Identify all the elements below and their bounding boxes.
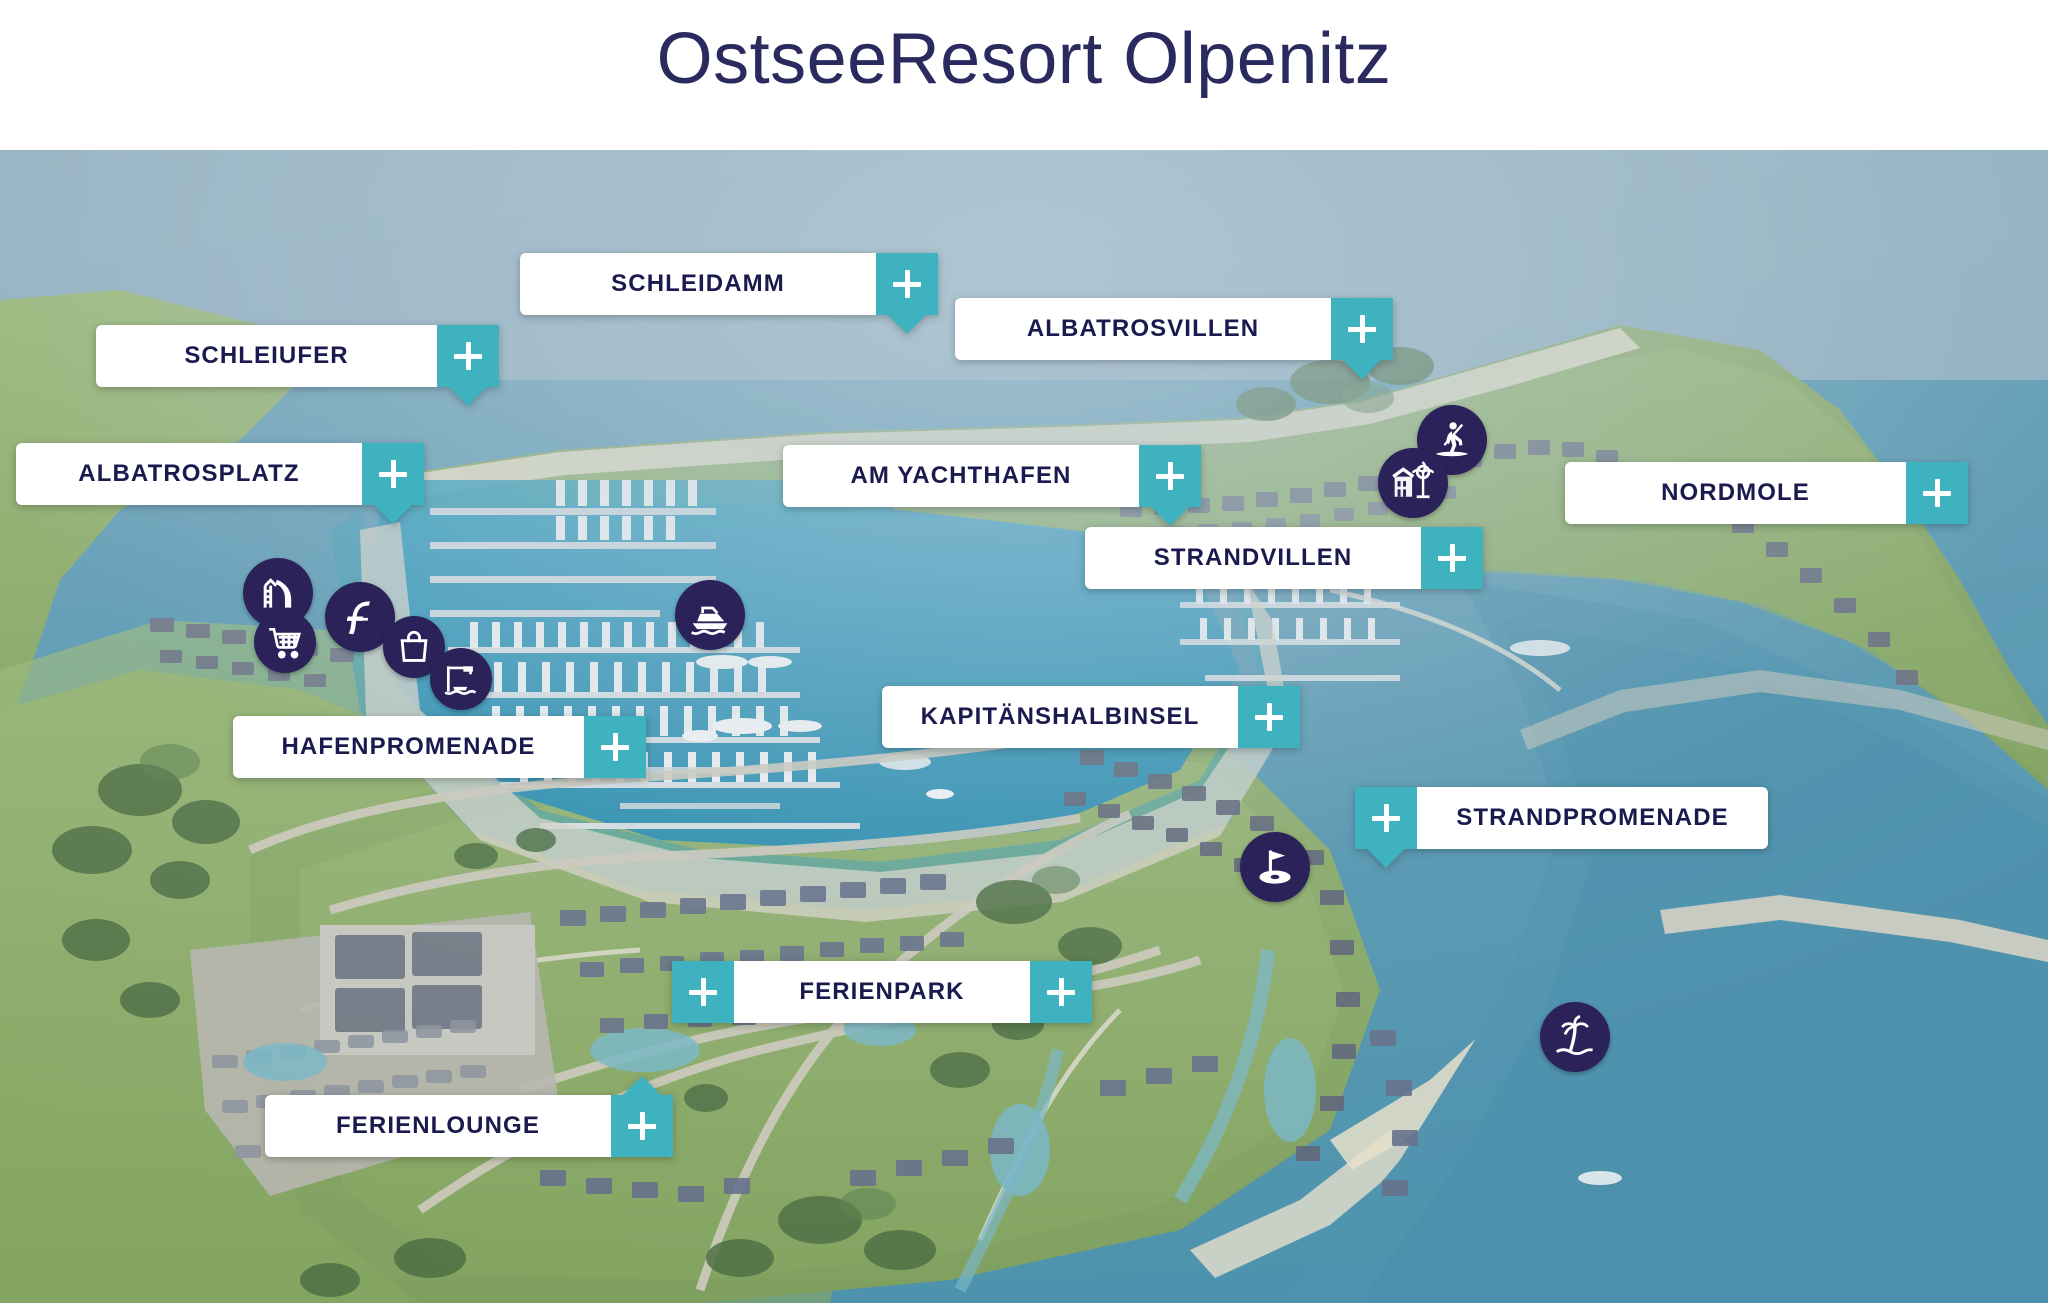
map-label-schleiufer[interactable]: SCHLEIUFER (96, 325, 499, 387)
map-label-text-schleiufer: SCHLEIUFER (96, 325, 437, 387)
plus-icon-albatrosplatz[interactable] (362, 443, 424, 505)
water-slide-icon (256, 571, 300, 615)
beach-palm-icon (1553, 1015, 1597, 1059)
map-label-text-ferienpark: FERIENPARK (734, 961, 1030, 1023)
poi-marker-promenade[interactable] (1378, 448, 1448, 518)
map-label-text-hafenpromenade: HAFENPROMENADE (233, 716, 584, 778)
pointer-tail-schleidamm (887, 314, 927, 334)
shopping-cart-icon (266, 623, 304, 661)
motorboat-icon (688, 593, 732, 637)
plus-icon-hafenpromenade[interactable] (584, 716, 646, 778)
paddleboard-icon (1430, 418, 1474, 462)
pointer-tail-schleiufer (448, 386, 488, 406)
map-label-schleidamm[interactable]: SCHLEIDAMM (520, 253, 938, 315)
map-label-hafenpromenade[interactable]: HAFENPROMENADE (233, 716, 646, 778)
map-label-albatrosplatz[interactable]: ALBATROSPLATZ (16, 443, 424, 505)
map-label-strandvillen[interactable]: STRANDVILLEN (1085, 527, 1483, 589)
map-label-ferienpark[interactable]: FERIENPARK (672, 961, 1092, 1023)
map-label-text-nordmole: NORDMOLE (1565, 462, 1906, 524)
map-label-text-ferienlounge: FERIENLOUNGE (265, 1095, 611, 1157)
pointer-tail-albatrosvillen (1342, 359, 1382, 379)
map-label-text-am-yachthafen: AM YACHTHAFEN (783, 445, 1139, 507)
shopping-bag-icon (395, 628, 433, 666)
map-label-strandpromenade[interactable]: STRANDPROMENADE (1355, 787, 1768, 849)
poi-marker-boat-crane[interactable] (430, 648, 492, 710)
pointer-tail-strandpromenade (1366, 848, 1406, 868)
map-label-am-yachthafen[interactable]: AM YACHTHAFEN (783, 445, 1201, 507)
pointer-tail-am-yachthafen (1150, 506, 1190, 526)
golf-flag-icon (1253, 845, 1297, 889)
plus-icon-strandvillen[interactable] (1421, 527, 1483, 589)
map-label-kapitaenshalbinsel[interactable]: KAPITÄNSHALBINSEL (882, 686, 1300, 748)
pointer-tail-albatrosplatz (373, 504, 413, 524)
plus-icon-kapitaenshalbinsel[interactable] (1238, 686, 1300, 748)
map-label-text-albatrosplatz: ALBATROSPLATZ (16, 443, 362, 505)
resort-map-page: OstseeResort Olpenitz (0, 0, 2048, 1303)
plus-icon-strandpromenade[interactable] (1355, 787, 1417, 849)
plus-icon-ferienlounge[interactable] (611, 1095, 673, 1157)
map-label-text-strandpromenade: STRANDPROMENADE (1417, 787, 1768, 849)
f-logo-icon (338, 595, 382, 639)
poi-marker-golf[interactable] (1240, 832, 1310, 902)
map-label-text-kapitaenshalbinsel: KAPITÄNSHALBINSEL (882, 686, 1238, 748)
map-label-text-albatrosvillen: ALBATROSVILLEN (955, 298, 1331, 360)
poi-marker-motorboat[interactable] (675, 580, 745, 650)
plus-icon-schleidamm[interactable] (876, 253, 938, 315)
map-label-text-strandvillen: STRANDVILLEN (1085, 527, 1421, 589)
pavilion-icon (1391, 461, 1435, 505)
map-label-albatrosvillen[interactable]: ALBATROSVILLEN (955, 298, 1393, 360)
boat-crane-icon (442, 660, 480, 698)
map-label-nordmole[interactable]: NORDMOLE (1565, 462, 1968, 524)
poi-marker-shopping[interactable] (254, 611, 316, 673)
plus-icon-am-yachthafen[interactable] (1139, 445, 1201, 507)
plus-icon-ferienpark-right[interactable] (1030, 961, 1092, 1023)
map-label-text-schleidamm: SCHLEIDAMM (520, 253, 876, 315)
plus-icon-nordmole[interactable] (1906, 462, 1968, 524)
map-label-ferienlounge[interactable]: FERIENLOUNGE (265, 1095, 673, 1157)
plus-icon-schleiufer[interactable] (437, 325, 499, 387)
pointer-tail-ferienlounge (622, 1076, 662, 1096)
plus-icon-ferienpark-left[interactable] (672, 961, 734, 1023)
page-title: OstseeResort Olpenitz (0, 18, 2048, 100)
poi-marker-beach[interactable] (1540, 1002, 1610, 1072)
plus-icon-albatrosvillen[interactable] (1331, 298, 1393, 360)
